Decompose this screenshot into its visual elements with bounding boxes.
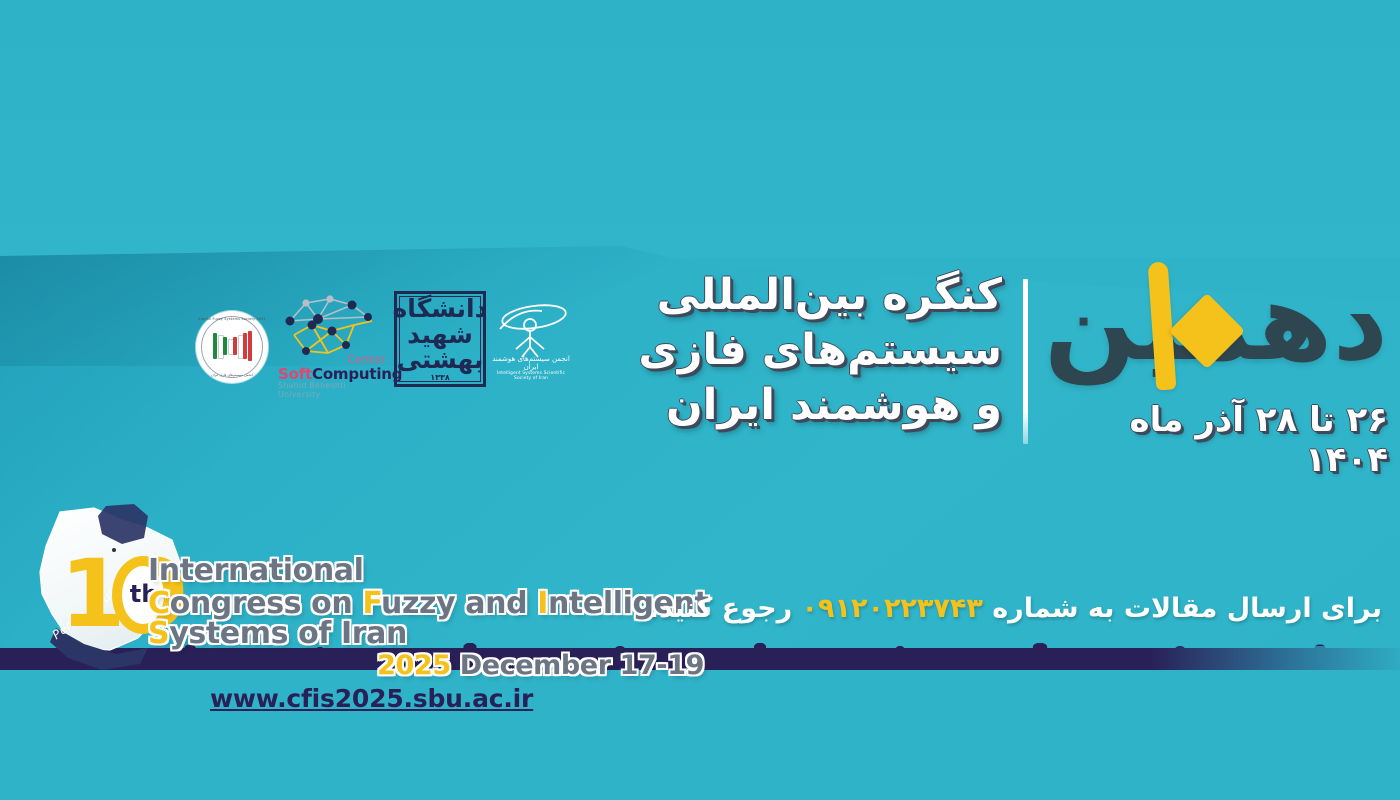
yellow-ten-numeral xyxy=(1132,262,1242,394)
contact-phone-number[interactable]: ۰۹۱۲۰۲۲۳۷۴۳ xyxy=(802,593,983,624)
sponsor-logo-row: Iranian Fuzzy Systems Society 2001 انجمن… xyxy=(196,283,572,395)
congress-website-url[interactable]: www.cfis2025.sbu.ac.ir xyxy=(210,684,748,713)
soft-computing-center-logo: Center SoftComputing Shahid Beheshti Uni… xyxy=(272,291,390,395)
background-top-teal xyxy=(0,0,1400,258)
intelligent-systems-society-logo: انجمن سیستم‌های هوشمند ایران Intelligent… xyxy=(490,297,572,389)
soft-computing-university-label: Shahid Beheshti University xyxy=(278,381,390,399)
english-title-block: International Congress on Fuzzy and Inte… xyxy=(148,556,748,713)
issi-english-label: Intelligent Systems Scientific Society o… xyxy=(490,371,572,381)
contact-prefix: برای ارسال مقالات به شماره xyxy=(983,593,1382,624)
fuzzy-society-top-text: Iranian Fuzzy Systems Society 2001 xyxy=(196,317,268,321)
persian-date: ۲۶ تا ۲۸ آذر ماه ۱۴۰۴ xyxy=(1040,400,1388,480)
english-year: 2025 xyxy=(377,650,451,681)
submission-contact-line: برای ارسال مقالات به شماره ۰۹۱۲۰۲۲۳۷۴۳ ر… xyxy=(649,592,1382,626)
sbu-calligraphy: دانشگاه شهید بهشتی ۱۳۳۸ xyxy=(404,301,476,377)
sbu-calligraphy-text: دانشگاه شهید بهشتی xyxy=(393,296,488,373)
ordinal-date-block: دهمین ۲۶ تا ۲۸ آذر ماه ۱۴۰۴ xyxy=(1040,258,1392,458)
ground-strip-fade xyxy=(1150,646,1400,672)
headline-line-1: کنگره بین‌المللی xyxy=(620,268,1002,323)
english-line-2-part-7: ystems of Iran xyxy=(169,616,407,651)
fuzzy-society-bottom-text: انجمن سیستم‌های فازی ایران xyxy=(196,373,268,377)
brain-network-icon xyxy=(272,291,390,361)
headline-line-3: و هوشمند ایران xyxy=(620,378,1002,433)
fuzzy-society-logo: Iranian Fuzzy Systems Society 2001 انجمن… xyxy=(196,311,268,383)
iran-flag-chevrons xyxy=(213,331,253,361)
english-line-2-part-6: S xyxy=(148,616,169,651)
shahid-beheshti-university-logo: دانشگاه شهید بهشتی ۱۳۳۸ xyxy=(394,291,486,387)
sbu-year: ۱۳۳۸ xyxy=(430,374,450,382)
issi-persian-label: انجمن سیستم‌های هوشمند ایران xyxy=(490,355,572,371)
english-dates: December 17-19 xyxy=(451,650,704,681)
persian-headline: کنگره بین‌المللی سیستم‌های فازی و هوشمند… xyxy=(620,268,1002,433)
english-line-3: 2025 December 17-19 xyxy=(148,652,704,679)
poster-banner: Iranian Fuzzy Systems Society 2001 انجمن… xyxy=(0,0,1400,800)
issi-bird-icon xyxy=(490,299,572,361)
vertical-divider xyxy=(1023,279,1028,444)
english-line-2-part-4: I xyxy=(537,586,548,621)
contact-suffix: رجوع کنید. xyxy=(649,593,802,624)
english-line-1: International xyxy=(148,556,748,586)
ten-diamond xyxy=(1169,293,1245,369)
headline-line-2: سیستم‌های فازی xyxy=(620,323,1002,378)
